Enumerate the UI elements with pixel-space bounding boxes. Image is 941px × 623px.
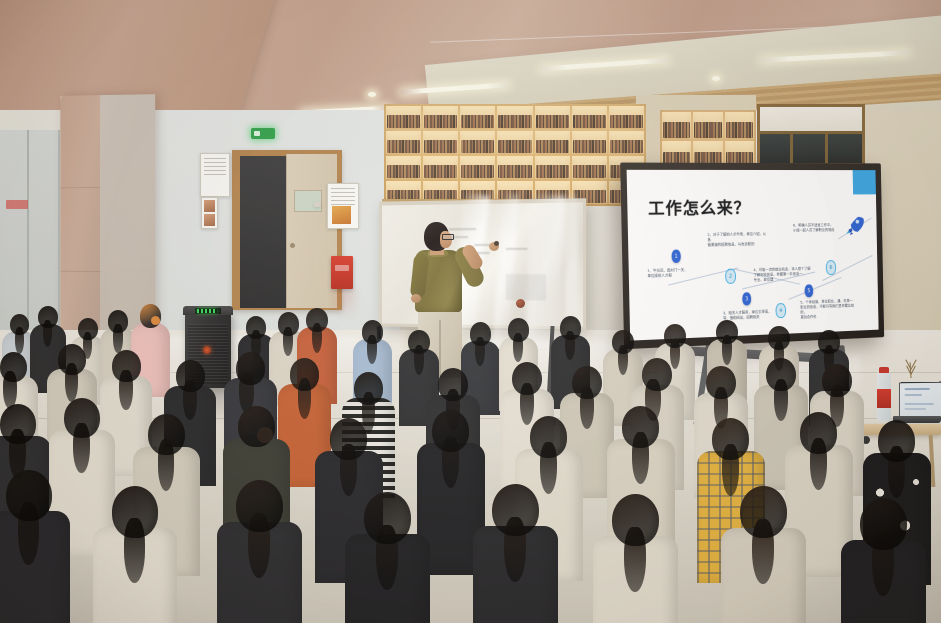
slide-text-1: 1、毕业后，面对门一关， 单位接收人才报 <box>647 267 700 279</box>
bookshelf-cell <box>386 106 421 129</box>
bookshelf-cell <box>423 156 458 179</box>
audience-member-head <box>290 358 319 391</box>
audience-member-head <box>860 498 907 550</box>
audience-member-head <box>470 322 491 346</box>
dried-plant <box>902 352 920 378</box>
door-panel[interactable] <box>286 154 337 308</box>
audience-member-head <box>108 310 128 333</box>
hair-bun <box>151 316 160 325</box>
books <box>573 115 606 128</box>
books <box>461 140 494 153</box>
slide-text-3: 3、相关人才服务，单位引导宣， 导、借助网站，招聘相关 <box>723 309 780 321</box>
exit-sign-icon <box>251 128 275 139</box>
audience-member-head <box>560 316 581 340</box>
audience-member-head <box>766 358 796 391</box>
flat-panel-display[interactable]: 工作怎么来？ 1 2 3 4 5 <box>620 163 884 350</box>
audience-member-head <box>878 420 915 462</box>
marker-pen <box>494 241 499 246</box>
books <box>536 115 569 128</box>
whiteboard[interactable] <box>379 198 586 329</box>
audience-member-head <box>58 344 86 375</box>
bookshelf-cell <box>423 106 458 129</box>
audience-member-head <box>818 330 840 354</box>
rocket-icon <box>841 213 865 239</box>
audience-member-head <box>438 368 468 401</box>
audience-member-head <box>572 366 602 399</box>
bottle-label <box>877 389 891 408</box>
audience-member-head <box>236 480 283 532</box>
audience-member-head <box>800 412 837 454</box>
books <box>498 140 531 153</box>
hair-bun <box>257 427 272 442</box>
books <box>424 115 457 128</box>
bookshelf-cell <box>535 131 570 154</box>
slide-text-5: 5、个体经营、单位职业、通、在单一 职业的信息，不断引导我们是掌握比较的， 更加… <box>800 298 858 320</box>
eyeglasses-icon <box>442 234 454 240</box>
audience-member-head <box>612 330 634 354</box>
books <box>461 165 494 178</box>
downlight <box>712 76 720 81</box>
books <box>424 140 457 153</box>
audience-member-head <box>306 308 328 332</box>
audience-member-head <box>78 318 98 340</box>
books <box>536 140 569 153</box>
audience-member-head <box>432 410 469 452</box>
bookshelf-cell <box>572 106 607 129</box>
books <box>461 115 494 128</box>
speaker-led-display <box>195 308 221 314</box>
slide-accent-square <box>853 170 876 194</box>
audience-member-head <box>64 398 100 438</box>
audience-member-head <box>706 366 736 399</box>
audience-member-head <box>622 406 659 448</box>
audience-member-head <box>38 306 58 328</box>
speaker-indicator-light <box>203 346 211 354</box>
books <box>536 165 569 178</box>
wall-poster-notice <box>200 153 230 197</box>
whiteboard-marker[interactable] <box>516 299 525 308</box>
audience-member-head <box>354 372 383 405</box>
elevator-notice <box>6 200 28 209</box>
downlight <box>368 92 376 97</box>
bookshelf-cell <box>460 156 495 179</box>
audience-member-head <box>6 470 52 521</box>
slide-screen[interactable]: 工作怎么来？ 1 2 3 4 5 <box>627 170 879 341</box>
audience-member-head <box>0 352 27 382</box>
bookshelf-cell <box>386 131 421 154</box>
slide-node-6: 6 <box>826 260 837 275</box>
wall-poster-photo <box>201 197 218 229</box>
books <box>387 115 420 128</box>
books <box>573 140 606 153</box>
books <box>424 165 457 178</box>
slide-node-2: 2 <box>725 269 736 284</box>
bookshelf-cell <box>386 156 421 179</box>
books <box>610 115 643 128</box>
upper-window <box>757 104 865 166</box>
audience-member-head <box>362 320 383 344</box>
slide-node-1: 1 <box>671 250 680 263</box>
books <box>694 122 721 138</box>
audience-member-head <box>664 324 686 348</box>
audience-member-head <box>612 494 659 546</box>
bookshelf-cell <box>423 131 458 154</box>
audience-member-head <box>408 330 430 354</box>
door-knob[interactable] <box>290 243 295 248</box>
audience-member-head <box>768 326 790 350</box>
bookshelf-cell <box>497 131 532 154</box>
audience-member-head <box>822 364 852 397</box>
bookshelf-cell <box>460 106 495 129</box>
presenter-leg-split <box>439 320 441 378</box>
books <box>726 122 753 138</box>
books <box>387 165 420 178</box>
door-window <box>294 190 322 212</box>
audience-member-head <box>10 314 29 335</box>
laptop-screen[interactable] <box>899 382 941 420</box>
bookshelf-cell <box>693 112 722 139</box>
slide-title: 工作怎么来？ <box>648 194 751 219</box>
presenter-left-hand <box>411 294 421 303</box>
bookshelf-cell <box>609 106 644 129</box>
books <box>498 165 531 178</box>
audience-member-head <box>492 484 539 536</box>
door-opening <box>240 156 286 308</box>
bookshelf-cell <box>572 131 607 154</box>
audience-member-head <box>508 318 529 342</box>
audience-member-head <box>712 418 749 460</box>
audience-member-head <box>176 360 205 392</box>
audience-member-head <box>0 404 36 444</box>
audience-member-head <box>716 320 738 344</box>
audience-member-head <box>364 492 411 544</box>
slide-node-5: 5 <box>805 284 814 297</box>
books <box>610 140 643 153</box>
audience-member-head <box>278 312 299 336</box>
slide-text-2: 2、对于了解的人才市场，单位介绍，从各 管渠道的招聘信息，与有关联的 <box>707 232 768 248</box>
bookshelf-cell <box>497 156 532 179</box>
slide-text-4: 4、可取一次的就业机会，本人是个了解 了解在校信息，掌握第一手信息一， 专业、单… <box>753 267 813 284</box>
lecture-scene: 工作怎么来？ 1 2 3 4 5 <box>0 0 941 623</box>
bookshelf-wall <box>384 104 646 206</box>
bookshelf-cell <box>609 131 644 154</box>
audience-member-head <box>512 362 542 395</box>
audience-member-head <box>236 352 265 385</box>
bookshelf-cell <box>572 156 607 179</box>
audience-member-head <box>246 316 266 339</box>
elevator-door-split <box>27 130 29 345</box>
bookshelf-cell <box>535 106 570 129</box>
slide-node-3: 3 <box>742 292 751 305</box>
audience-member-head <box>740 486 787 538</box>
audience-member-head <box>642 358 672 391</box>
audience-member-head <box>112 486 158 538</box>
wall-poster-photo <box>327 183 359 229</box>
fire-extinguisher-box <box>331 256 353 289</box>
audience-member-head <box>112 350 141 382</box>
audience-member-head <box>330 418 367 460</box>
books <box>387 140 420 153</box>
audience-member-head <box>530 416 567 458</box>
wall-switch[interactable] <box>314 202 321 207</box>
books <box>573 165 606 178</box>
audience-member-head <box>148 414 185 455</box>
books <box>498 115 531 128</box>
bottle-cap <box>879 367 889 373</box>
bookshelf-cell <box>725 112 754 139</box>
bookshelf-cell <box>460 131 495 154</box>
bookshelf-cell <box>497 106 532 129</box>
bookshelf-cell <box>535 156 570 179</box>
books <box>663 122 690 138</box>
bookshelf-cell <box>662 112 691 139</box>
